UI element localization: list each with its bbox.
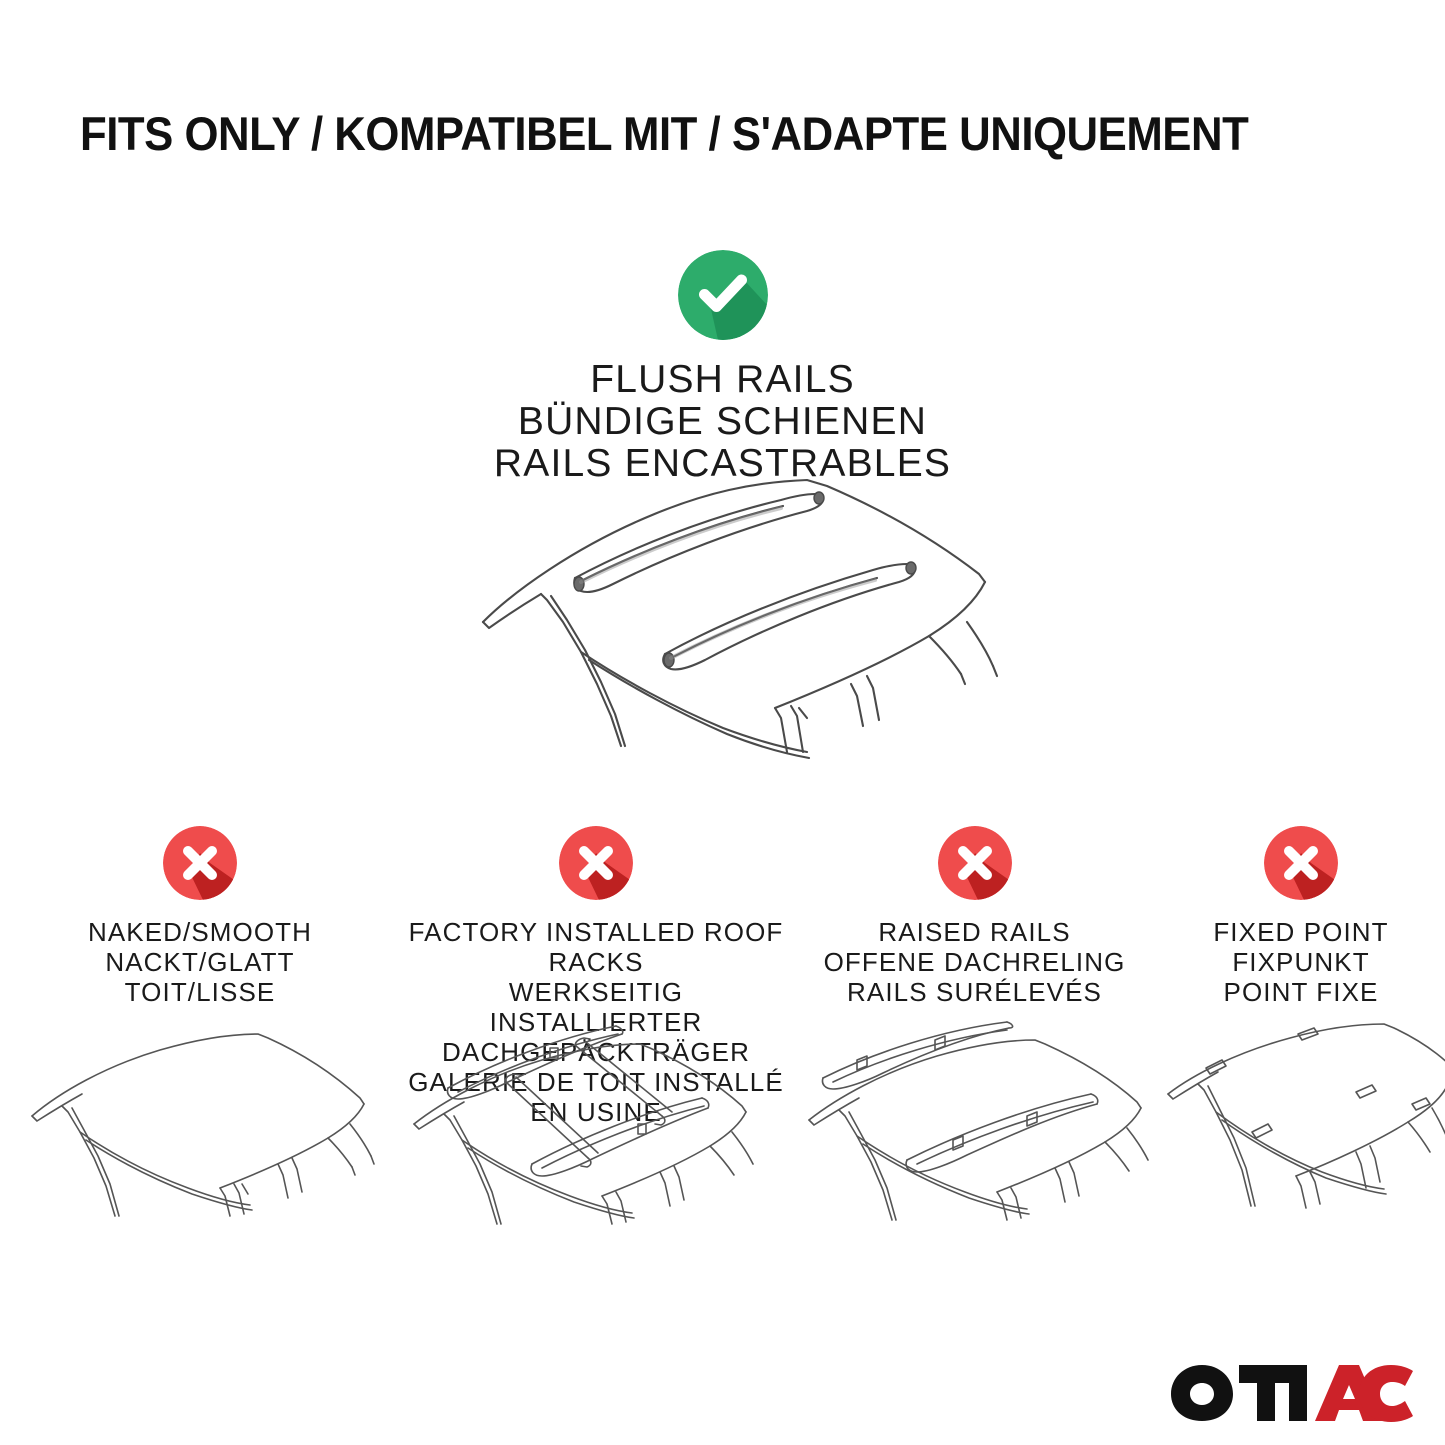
logo-letter-m xyxy=(1239,1365,1307,1421)
x-circle-icon xyxy=(559,826,633,900)
compatible-labels: FLUSH RAILS BÜNDIGE SCHIENEN RAILS ENCAS… xyxy=(0,359,1445,485)
label-en: NAKED/SMOOTH xyxy=(0,917,400,947)
incompatible-labels: RAISED RAILS OFFENE DACHRELING RAILS SUR… xyxy=(792,917,1157,1007)
label-de: NACKT/GLATT xyxy=(0,947,400,977)
incompatible-item-fixed-point: FIXED POINT FIXPUNKT POINT FIXE xyxy=(1157,826,1445,1007)
omac-logo xyxy=(1167,1361,1417,1423)
label-de: OFFENE DACHRELING xyxy=(792,947,1157,977)
incompatible-illustrations-row xyxy=(0,1020,1445,1230)
incompatible-item-naked-smooth: NAKED/SMOOTH NACKT/GLATT TOIT/LISSE xyxy=(0,826,400,1007)
car-roof-flush-rails-illustration xyxy=(455,470,1015,770)
page-title: FITS ONLY / KOMPATIBEL MIT / S'ADAPTE UN… xyxy=(80,108,1289,160)
incompatible-labels: NAKED/SMOOTH NACKT/GLATT TOIT/LISSE xyxy=(0,917,400,1007)
incompatible-item-raised-rails: RAISED RAILS OFFENE DACHRELING RAILS SUR… xyxy=(792,826,1157,1007)
compatible-label-en: FLUSH RAILS xyxy=(0,359,1445,401)
compatible-section: FLUSH RAILS BÜNDIGE SCHIENEN RAILS ENCAS… xyxy=(0,250,1445,485)
x-circle-icon xyxy=(938,826,1012,900)
label-de: FIXPUNKT xyxy=(1157,947,1445,977)
logo-letter-o xyxy=(1171,1365,1233,1421)
x-circle-icon xyxy=(163,826,237,900)
label-en: RAISED RAILS xyxy=(792,917,1157,947)
label-fr: POINT FIXE xyxy=(1157,977,1445,1007)
car-roof-raised-rails-illustration xyxy=(795,1020,1170,1230)
car-roof-factory-racks-illustration xyxy=(400,1020,775,1230)
car-roof-naked-illustration xyxy=(20,1020,390,1230)
label-fr: TOIT/LISSE xyxy=(0,977,400,1007)
check-circle-icon xyxy=(678,250,768,340)
compatible-label-de: BÜNDIGE SCHIENEN xyxy=(0,401,1445,443)
x-circle-icon xyxy=(1264,826,1338,900)
label-fr: RAILS SURÉLEVÉS xyxy=(792,977,1157,1007)
car-roof-fixed-point-illustration xyxy=(1160,1020,1445,1230)
compatibility-infographic: FITS ONLY / KOMPATIBEL MIT / S'ADAPTE UN… xyxy=(0,0,1445,1445)
label-en: FACTORY INSTALLED ROOF RACKS xyxy=(400,917,792,977)
incompatible-labels: FIXED POINT FIXPUNKT POINT FIXE xyxy=(1157,917,1445,1007)
label-en: FIXED POINT xyxy=(1157,917,1445,947)
